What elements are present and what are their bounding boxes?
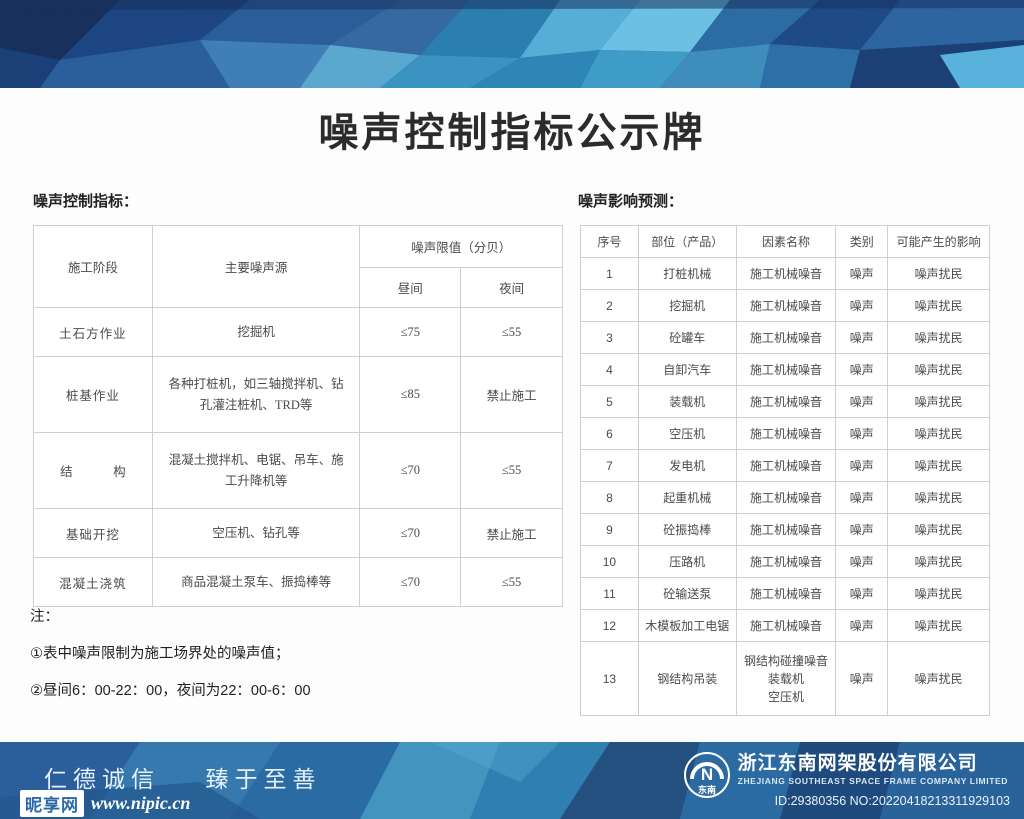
cell-factor: 施工机械噪音	[736, 578, 836, 610]
company-slogan: 仁德诚信 臻于至善	[44, 760, 322, 794]
cell-day: ≤75	[360, 308, 461, 357]
cell-factor: 施工机械噪音	[736, 322, 836, 354]
table-row: 1打桩机械施工机械噪音噪声噪声扰民	[581, 258, 990, 290]
note-item-1: ①表中噪声限制为施工场界处的噪声值；	[30, 642, 311, 663]
cell-category: 噪声	[836, 514, 888, 546]
header-part: 部位（产品）	[638, 226, 736, 258]
cell-part: 起重机械	[638, 482, 736, 514]
cell-stage: 桩基作业	[34, 357, 153, 433]
company-name-cn: 浙江东南网架股份有限公司	[738, 754, 1008, 775]
cell-impact: 噪声扰民	[888, 290, 990, 322]
slogan-part-2: 臻于至善	[206, 767, 322, 792]
watermark-badge: 昵享网	[20, 790, 84, 817]
cell-no: 9	[581, 514, 639, 546]
cell-factor: 施工机械噪音	[736, 450, 836, 482]
cell-impact: 噪声扰民	[888, 610, 990, 642]
header-day: 昼间	[360, 268, 461, 308]
cell-category: 噪声	[836, 546, 888, 578]
cell-part: 自卸汽车	[638, 354, 736, 386]
logo-letter: N	[701, 765, 713, 784]
cell-night: 禁止施工	[461, 357, 563, 433]
cell-factor: 施工机械噪音	[736, 258, 836, 290]
cell-source: 混凝土搅拌机、电锯、吊车、施工升降机等	[152, 433, 360, 509]
header-no: 序号	[581, 226, 639, 258]
header-factor: 因素名称	[736, 226, 836, 258]
cell-day: ≤85	[360, 357, 461, 433]
cell-category: 噪声	[836, 258, 888, 290]
banner-polygon-pattern	[0, 0, 1024, 88]
cell-part: 压路机	[638, 546, 736, 578]
cell-part: 木模板加工电锯	[638, 610, 736, 642]
cell-impact: 噪声扰民	[888, 450, 990, 482]
cell-no: 3	[581, 322, 639, 354]
cell-impact: 噪声扰民	[888, 578, 990, 610]
header-night: 夜间	[461, 268, 563, 308]
logo-circle-icon: N 东南	[684, 752, 730, 798]
company-text-block: 浙江东南网架股份有限公司 ZHEJIANG SOUTHEAST SPACE FR…	[738, 752, 1008, 788]
cell-part: 砼振捣棒	[638, 514, 736, 546]
cell-part: 挖掘机	[638, 290, 736, 322]
cell-category: 噪声	[836, 386, 888, 418]
cell-no: 2	[581, 290, 639, 322]
cell-night: ≤55	[461, 433, 563, 509]
table-header-row: 施工阶段 主要噪声源 噪声限值（分贝）	[34, 226, 563, 268]
cell-night: ≤55	[461, 308, 563, 357]
cell-stage: 土石方作业	[34, 308, 153, 357]
table-row: 结 构 混凝土搅拌机、电锯、吊车、施工升降机等 ≤70 ≤55	[34, 433, 563, 509]
cell-stage: 结 构	[34, 433, 153, 509]
cell-source: 各种打桩机，如三轴搅拌机、钻孔灌注桩机、TRD等	[152, 357, 360, 433]
notes-title: 注：	[30, 605, 311, 626]
section-label-noise-impact: 噪声影响预测：	[578, 190, 683, 211]
table-header-row: 序号 部位（产品） 因素名称 类别 可能产生的影响	[581, 226, 990, 258]
cell-impact: 噪声扰民	[888, 546, 990, 578]
table-row: 10压路机施工机械噪音噪声噪声扰民	[581, 546, 990, 578]
table-row: 7发电机施工机械噪音噪声噪声扰民	[581, 450, 990, 482]
cell-part: 砼输送泵	[638, 578, 736, 610]
cell-category: 噪声	[836, 642, 888, 716]
cell-night: ≤55	[461, 558, 563, 607]
table-row: 混凝土浇筑 商品混凝土泵车、振捣棒等 ≤70 ≤55	[34, 558, 563, 607]
cell-factor: 施工机械噪音	[736, 290, 836, 322]
logo-cn-text: 东南	[698, 784, 716, 795]
cell-impact: 噪声扰民	[888, 482, 990, 514]
cell-factor: 施工机械噪音	[736, 514, 836, 546]
table-row: 9砼振捣棒施工机械噪音噪声噪声扰民	[581, 514, 990, 546]
table-row: 13钢结构吊装钢结构碰撞噪音装载机空压机噪声噪声扰民	[581, 642, 990, 716]
image-id-line: ID:29380356 NO:20220418213311929103	[775, 794, 1010, 808]
cell-factor: 施工机械噪音	[736, 354, 836, 386]
noise-control-board: 噪声控制指标公示牌 噪声控制指标： 噪声影响预测： 施工阶段 主要噪声源 噪声限…	[0, 0, 1024, 819]
cell-category: 噪声	[836, 322, 888, 354]
cell-impact: 噪声扰民	[888, 322, 990, 354]
table-row: 2挖掘机施工机械噪音噪声噪声扰民	[581, 290, 990, 322]
table-row: 6空压机施工机械噪音噪声噪声扰民	[581, 418, 990, 450]
cell-source: 挖掘机	[152, 308, 360, 357]
header-stage: 施工阶段	[34, 226, 153, 308]
cell-no: 6	[581, 418, 639, 450]
cell-no: 7	[581, 450, 639, 482]
cell-day: ≤70	[360, 433, 461, 509]
cell-no: 13	[581, 642, 639, 716]
table-row: 基础开挖 空压机、钻孔等 ≤70 禁止施工	[34, 509, 563, 558]
cell-impact: 噪声扰民	[888, 354, 990, 386]
table-row: 12木模板加工电锯施工机械噪音噪声噪声扰民	[581, 610, 990, 642]
cell-no: 12	[581, 610, 639, 642]
cell-source: 商品混凝土泵车、振捣棒等	[152, 558, 360, 607]
cell-factor: 钢结构碰撞噪音装载机空压机	[736, 642, 836, 716]
header-source: 主要噪声源	[152, 226, 360, 308]
cell-part: 打桩机械	[638, 258, 736, 290]
slogan-part-1: 仁德诚信	[44, 767, 160, 792]
cell-impact: 噪声扰民	[888, 418, 990, 450]
company-block: N 东南 浙江东南网架股份有限公司 ZHEJIANG SOUTHEAST SPA…	[684, 752, 1008, 798]
cell-day: ≤70	[360, 509, 461, 558]
company-name-en: ZHEJIANG SOUTHEAST SPACE FRAME COMPANY L…	[738, 775, 1008, 788]
cell-category: 噪声	[836, 610, 888, 642]
notes-block: 注： ①表中噪声限制为施工场界处的噪声值； ②昼间6：00-22：00，夜间为2…	[30, 605, 311, 700]
cell-stage: 基础开挖	[34, 509, 153, 558]
cell-no: 1	[581, 258, 639, 290]
cell-part: 砼罐车	[638, 322, 736, 354]
note-item-2: ②昼间6：00-22：00，夜间为22：00-6：00	[30, 679, 311, 700]
cell-no: 11	[581, 578, 639, 610]
top-banner-decoration	[0, 0, 1024, 88]
cell-factor: 施工机械噪音	[736, 482, 836, 514]
cell-source: 空压机、钻孔等	[152, 509, 360, 558]
watermark: 昵享网 www.nipic.cn	[20, 790, 190, 817]
cell-stage: 混凝土浇筑	[34, 558, 153, 607]
cell-part: 装载机	[638, 386, 736, 418]
page-title: 噪声控制指标公示牌	[0, 100, 1024, 158]
cell-no: 10	[581, 546, 639, 578]
table-row: 土石方作业 挖掘机 ≤75 ≤55	[34, 308, 563, 357]
cell-category: 噪声	[836, 290, 888, 322]
header-limit-group: 噪声限值（分贝）	[360, 226, 563, 268]
cell-no: 5	[581, 386, 639, 418]
cell-category: 噪声	[836, 578, 888, 610]
company-logo-icon: N 东南	[684, 752, 730, 798]
cell-category: 噪声	[836, 354, 888, 386]
watermark-url: www.nipic.cn	[91, 793, 190, 814]
section-label-noise-control: 噪声控制指标：	[33, 190, 138, 211]
cell-category: 噪声	[836, 418, 888, 450]
table-row: 3砼罐车施工机械噪音噪声噪声扰民	[581, 322, 990, 354]
cell-impact: 噪声扰民	[888, 642, 990, 716]
table-row: 8起重机械施工机械噪音噪声噪声扰民	[581, 482, 990, 514]
cell-part: 钢结构吊装	[638, 642, 736, 716]
cell-day: ≤70	[360, 558, 461, 607]
cell-factor: 施工机械噪音	[736, 610, 836, 642]
cell-category: 噪声	[836, 450, 888, 482]
cell-factor: 施工机械噪音	[736, 418, 836, 450]
cell-night: 禁止施工	[461, 509, 563, 558]
noise-impact-table: 序号 部位（产品） 因素名称 类别 可能产生的影响 1打桩机械施工机械噪音噪声噪…	[580, 225, 990, 716]
cell-impact: 噪声扰民	[888, 258, 990, 290]
cell-no: 4	[581, 354, 639, 386]
cell-impact: 噪声扰民	[888, 514, 990, 546]
cell-part: 空压机	[638, 418, 736, 450]
cell-impact: 噪声扰民	[888, 386, 990, 418]
cell-no: 8	[581, 482, 639, 514]
cell-factor: 施工机械噪音	[736, 546, 836, 578]
cell-category: 噪声	[836, 482, 888, 514]
header-category: 类别	[836, 226, 888, 258]
cell-factor: 施工机械噪音	[736, 386, 836, 418]
cell-part: 发电机	[638, 450, 736, 482]
noise-control-table: 施工阶段 主要噪声源 噪声限值（分贝） 昼间 夜间 土石方作业 挖掘机 ≤75 …	[33, 225, 563, 607]
table-row: 5装载机施工机械噪音噪声噪声扰民	[581, 386, 990, 418]
bottom-banner: 仁德诚信 臻于至善 昵享网 www.nipic.cn N 东南 浙江东南网架股份…	[0, 742, 1024, 819]
table-row: 11砼输送泵施工机械噪音噪声噪声扰民	[581, 578, 990, 610]
table-row: 桩基作业 各种打桩机，如三轴搅拌机、钻孔灌注桩机、TRD等 ≤85 禁止施工	[34, 357, 563, 433]
header-impact: 可能产生的影响	[888, 226, 990, 258]
table-row: 4自卸汽车施工机械噪音噪声噪声扰民	[581, 354, 990, 386]
